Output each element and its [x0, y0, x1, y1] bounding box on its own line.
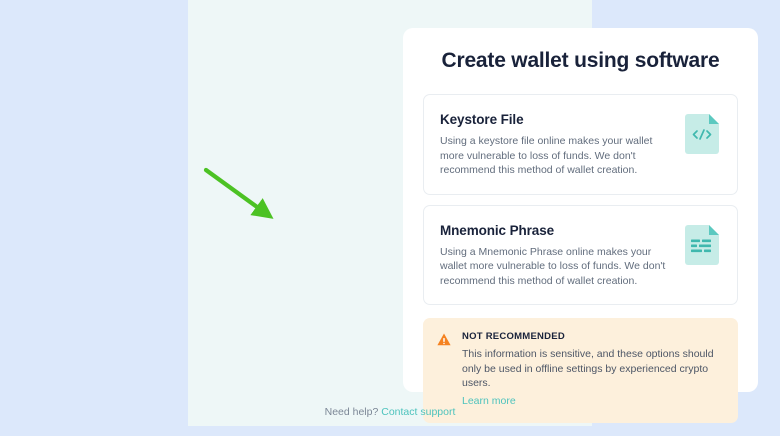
warning-triangle-icon	[437, 333, 451, 351]
app-shell: Create wallet using software Keystore Fi…	[188, 0, 592, 426]
option-card-mnemonic-phrase[interactable]: Mnemonic Phrase Using a Mnemonic Phrase …	[423, 205, 738, 306]
option-description-mnemonic-phrase: Using a Mnemonic Phrase online makes you…	[440, 245, 668, 289]
option-title-mnemonic-phrase: Mnemonic Phrase	[440, 223, 668, 238]
option-description-keystore-file: Using a keystore file online makes your …	[440, 134, 668, 178]
learn-more-link[interactable]: Learn more	[462, 395, 516, 407]
keystore-file-icon	[685, 114, 719, 159]
wallet-option-list: Keystore File Using a keystore file onli…	[423, 94, 738, 305]
page-title: Create wallet using software	[423, 49, 738, 73]
warning-body: This information is sensitive, and these…	[462, 347, 722, 391]
option-card-keystore-file[interactable]: Keystore File Using a keystore file onli…	[423, 94, 738, 195]
option-title-keystore-file: Keystore File	[440, 112, 668, 127]
wallet-creation-card: Create wallet using software Keystore Fi…	[403, 28, 758, 392]
option-text-mnemonic-phrase: Mnemonic Phrase Using a Mnemonic Phrase …	[440, 223, 668, 289]
footer-text: Need help?	[325, 406, 379, 418]
footer: Need help? Contact support	[188, 406, 592, 418]
warning-content: NOT RECOMMENDED This information is sens…	[462, 331, 722, 409]
warning-title: NOT RECOMMENDED	[462, 331, 722, 342]
option-text-keystore-file: Keystore File Using a keystore file onli…	[440, 112, 668, 178]
mnemonic-phrase-icon	[685, 225, 719, 270]
contact-support-link[interactable]: Contact support	[381, 406, 455, 418]
